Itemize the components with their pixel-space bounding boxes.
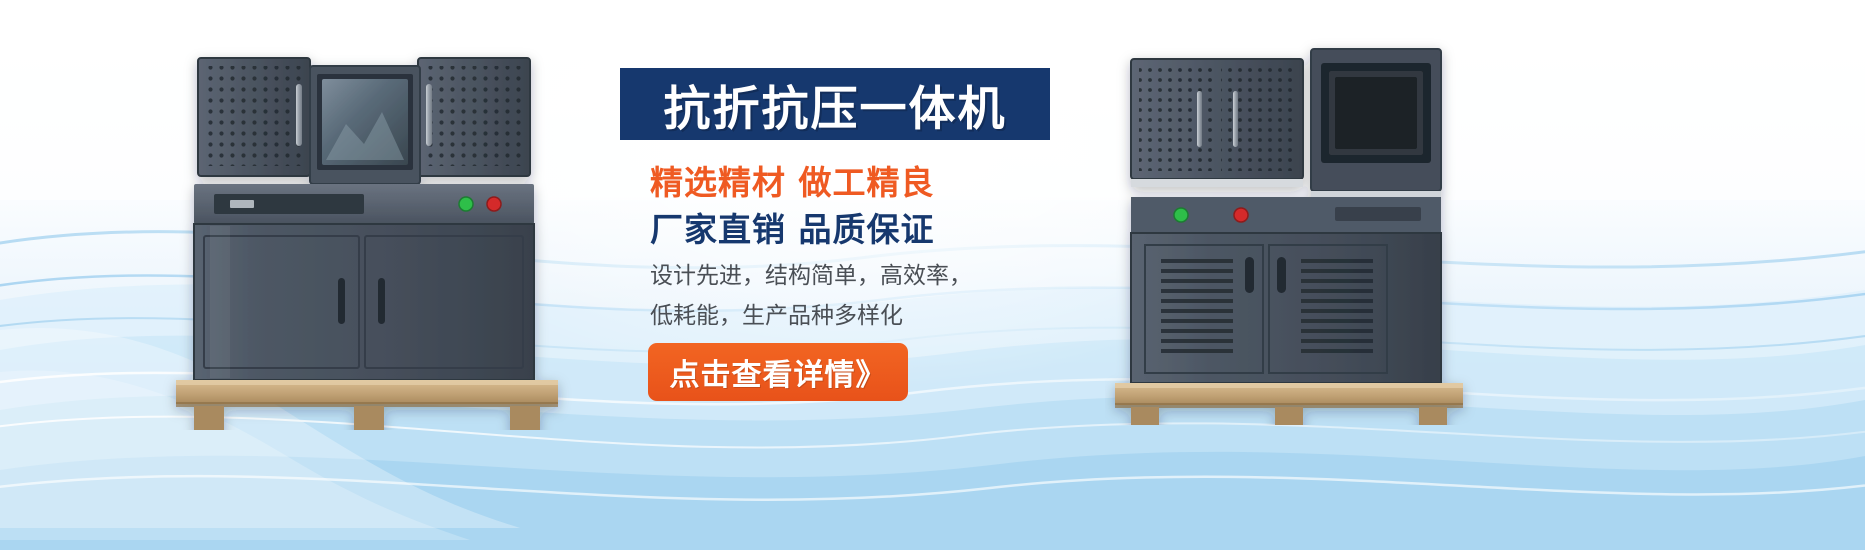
product-image-left xyxy=(150,40,610,430)
view-details-button[interactable]: 点击查看详情》 xyxy=(648,343,908,401)
subtitle-line-1: 精选精材 做工精良 xyxy=(650,156,935,204)
promo-banner: 抗折抗压一体机 精选精材 做工精良 厂家直销 品质保证 设计先进，结构简单，高效… xyxy=(0,0,1865,550)
description-line-2: 低耗能，生产品种多样化 xyxy=(650,296,903,330)
description-line-1: 设计先进，结构简单，高效率， xyxy=(650,256,972,290)
promo-text-block: 抗折抗压一体机 精选精材 做工精良 厂家直销 品质保证 设计先进，结构简单，高效… xyxy=(620,68,1090,488)
product-image-right xyxy=(1105,35,1505,425)
subtitle-line-2: 厂家直销 品质保证 xyxy=(650,203,935,251)
view-details-label: 点击查看详情》 xyxy=(670,350,887,394)
page-title: 抗折抗压一体机 xyxy=(664,70,1007,139)
title-banner: 抗折抗压一体机 xyxy=(620,68,1050,140)
